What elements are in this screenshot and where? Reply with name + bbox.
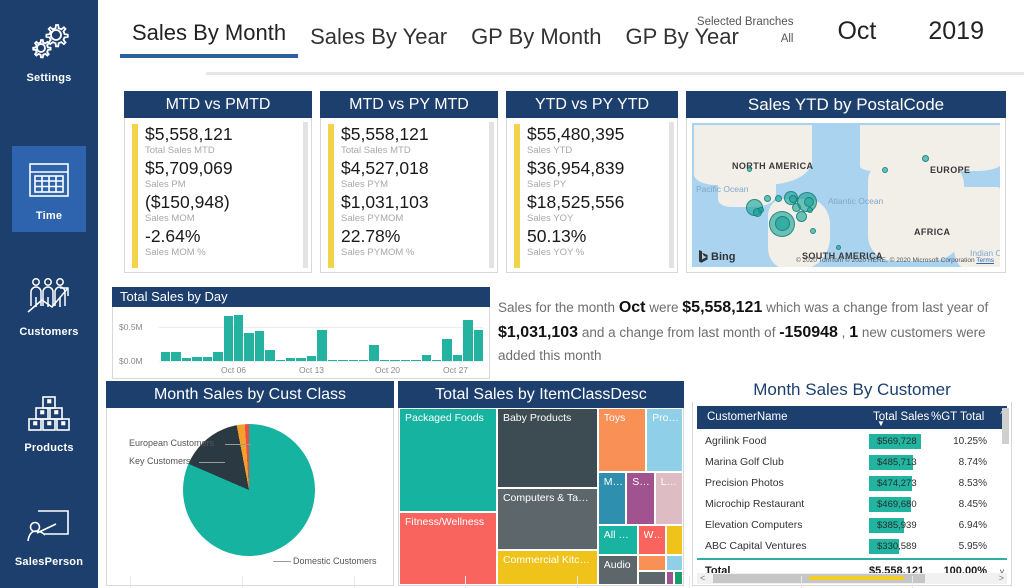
treemap-tile[interactable]: Meat [598,472,626,525]
map-label-africa: AFRICA [914,227,950,237]
kpi-label: Sales YOY [527,213,677,225]
bar[interactable] [203,357,212,361]
table-header-row: CustomerName Total Sales ▼ %GT Total Sal… [697,406,1007,429]
slicer-segment[interactable] [130,576,242,588]
narrative-text: which was a change from last year of [762,300,988,315]
kpi-value: $1,031,103 [341,192,497,213]
map-bubble[interactable] [807,207,813,213]
narrative-new-customers: 1 [849,324,858,341]
bar[interactable] [234,315,243,361]
cell-customer-name: Agrilink Food [705,431,766,452]
bar[interactable] [286,358,295,361]
bar[interactable] [182,358,191,361]
bar[interactable] [161,352,170,361]
treemap-tile-label: Computers & Tabl... [503,492,594,504]
treemap-tile[interactable]: Soda [626,472,654,525]
pie-label-key-customers: Key Customers [129,456,191,466]
map-bubble[interactable] [764,195,771,202]
map-bubble[interactable] [775,195,782,202]
y-axis-tick: $0.5M [119,322,143,332]
treemap-tile[interactable]: Projec... [646,408,683,472]
card-title: YTD vs PY YTD [506,91,678,118]
kpi-value: -2.64% [145,226,311,247]
slicer-segment[interactable] [465,576,577,588]
pie-body[interactable]: European Customers Key Customers Domesti… [106,408,394,586]
treemap-tile-label: Wi... [644,529,662,541]
kpi-value: 22.78% [341,226,497,247]
narrative-yoy-change: $1,031,103 [498,324,578,341]
map-body[interactable]: NORTH AMERICA EUROPE AFRICA SOUTH AMERIC… [686,118,1006,273]
narrative-mom-change: -150948 [779,324,838,341]
cell-pct: 5.95% [959,536,987,557]
map-terms-link[interactable]: Terms [976,257,994,264]
tab-sales-by-month[interactable]: Sales By Month [120,20,298,58]
treemap-tile-label: Commercial Kitch... [503,554,594,566]
cell-customer-name: Elevation Computers [705,515,802,536]
bar[interactable] [171,352,180,361]
tab-bar: Sales By Month Sales By Year GP By Month… [120,20,751,58]
kpi-value: $4,527,018 [341,158,497,179]
treemap-tile[interactable]: Computers & Tabl... [497,488,598,550]
kpi-row: $1,031,103 Sales PYMOM [321,192,497,225]
kpi-label: Sales MOM % [145,247,311,259]
card-title: Total Sales by ItemClassDesc [398,381,684,408]
sidebar-item-products[interactable]: Products [12,378,86,464]
map-bubble[interactable] [775,216,790,231]
tab-gp-by-month[interactable]: GP By Month [459,24,613,58]
treemap-tile-label: Baby Products [503,412,594,424]
pie-label-european-customers: European Customers [129,438,214,448]
bar[interactable] [380,360,389,361]
treemap-tile[interactable] [666,525,683,555]
card-body: $5,558,121 Total Sales MTD $4,527,018 Sa… [320,118,498,273]
kpi-row: 50.13% Sales YOY % [507,226,677,259]
map-bubble[interactable] [747,167,752,172]
bar[interactable] [453,355,462,361]
treemap-tile[interactable] [666,555,683,571]
map-bubble[interactable] [758,207,764,213]
table-card-month-sales-by-customer: Month Sales By Customer CustomerName Tot… [692,378,1012,586]
kpi-label: Sales YOY % [527,247,677,259]
kpi-value: 50.13% [527,226,677,247]
kpi-label: Total Sales MTD [145,145,311,157]
kpi-label: Sales PM [145,179,311,191]
map-label-north-america: NORTH AMERICA [732,161,813,171]
kpi-label: Sales PY [527,179,677,191]
x-axis-tick: Oct 27 [443,365,468,375]
map-attribution: © 2020 TomTom © 2020 HERE, © 2020 Micros… [796,257,994,264]
bar[interactable] [422,355,431,361]
treemap-tile[interactable]: Toys [598,408,646,472]
kpi-row: $5,558,121 Total Sales MTD [125,124,311,157]
card-title: MTD vs PY MTD [320,91,498,118]
cell-pct: 8.74% [959,452,987,473]
gridline [159,361,483,362]
table-row[interactable]: Agrilink Food $569,728 10.25% [697,431,1007,452]
narrative-text: were [646,300,683,315]
kpi-row: $5,558,121 Total Sales MTD [321,124,497,157]
table-row[interactable]: Microchip Restaurant $469,680 8.45% [697,494,1007,515]
cell-pct: 10.25% [953,431,987,452]
kpi-value: $5,709,069 [145,158,311,179]
narrative-month: Oct [619,299,646,316]
bar[interactable] [474,330,483,361]
sidebar-item-salesperson[interactable]: SalesPerson [12,492,86,578]
map-label-pacific-ocean: Pacific Ocean [696,185,748,195]
sort-descending-icon: ▼ [877,419,885,428]
treemap-tile[interactable]: Packaged Foods [399,408,497,512]
treemap-body[interactable]: Packaged FoodsFitness/WellnessBaby Produ… [398,408,684,586]
cell-total-sales: $385,939 [877,515,917,536]
y-axis-tick: $0.0M [119,356,143,366]
kpi-row: $55,480,395 Sales YTD [507,124,677,157]
dashboard-header: Sales By Month Sales By Year GP By Month… [98,0,1024,76]
bing-logo[interactable]: Bing [698,250,735,263]
kpi-value: ($150,948) [145,192,311,213]
kpi-row: ($150,948) Sales MOM [125,192,311,225]
column-header-customername[interactable]: CustomerName [707,406,788,429]
selected-branches-label: Selected Branches [697,14,794,31]
column-header-pct-total-sales[interactable]: %GT Total Sales [931,406,1007,429]
kpi-value: $5,558,121 [145,124,311,145]
treemap-tile[interactable]: Baby Products [497,408,598,488]
bar[interactable] [255,331,264,361]
sidebar-item-customers[interactable]: Customers [12,262,86,348]
kpi-row: $4,527,018 Sales PYM [321,158,497,191]
sidebar-item-settings[interactable]: Settings [12,8,86,94]
cell-pct: 8.45% [959,494,987,515]
landmass-north-america [694,125,812,185]
narrative-text: , [838,325,849,340]
boxes-icon [23,388,75,436]
card-title: MTD vs PMTD [124,91,312,118]
kpi-label: Sales PYMOM % [341,247,497,259]
map-label-europe: EUROPE [930,165,970,175]
table-row[interactable]: Marina Golf Club $485,713 8.74% [697,452,1007,473]
treemap-tile[interactable]: Lifts [655,472,683,525]
cell-pct: 8.53% [959,473,987,494]
cell-total-sales: $474,273 [877,473,917,494]
table-total-separator [697,558,1007,560]
cell-total-sales: $469,680 [877,494,917,515]
gears-icon [23,18,75,66]
calendar-icon [23,156,75,204]
header-filters: Selected Branches All Oct 2019 [697,14,1010,49]
card-title: Month Sales by Cust Class [106,381,394,408]
kpi-card-ytd-vs-py-ytd: YTD vs PY YTD $55,480,395 Sales YTD $36,… [506,91,678,273]
bottom-month-slicer[interactable] [130,576,1024,588]
bar[interactable] [265,350,274,361]
treemap-tile[interactable]: Wi... [638,525,666,555]
x-axis-tick: Oct 13 [299,365,324,375]
kpi-label: Sales MOM [145,213,311,225]
bar[interactable] [192,357,201,361]
bar[interactable] [338,360,347,361]
pie-card-month-sales-by-cust-class: Month Sales by Cust Class European Custo… [106,381,394,586]
bar[interactable] [432,360,441,361]
sidebar-item-label: Customers [19,326,78,338]
bar[interactable] [401,360,410,361]
map-bubble[interactable] [789,195,797,203]
slicer-segment[interactable] [689,576,801,588]
kpi-label: Sales PYM [341,179,497,191]
map-bubble[interactable] [804,197,814,207]
map-label-atlantic-ocean: Atlantic Ocean [828,197,883,207]
bar[interactable] [296,358,305,361]
cell-customer-name: Microchip Restaurant [705,494,804,515]
narrative-text: Sales for the month [498,300,619,315]
kpi-row: 22.78% Sales PYMOM % [321,226,497,259]
bar[interactable] [307,356,316,361]
treemap-tile-label: Fitness/Wellness [405,516,493,528]
selected-branches-filter[interactable]: Selected Branches All [697,14,812,49]
pie-leader-line [273,561,291,562]
card-title: Total Sales by Day [112,287,490,307]
card-body: $55,480,395 Sales YTD $36,954,839 Sales … [506,118,678,273]
kpi-row: -2.64% Sales MOM % [125,226,311,259]
selected-month-value[interactable]: Oct [811,17,902,46]
x-axis-tick: Oct 06 [221,365,246,375]
chart-card-total-sales-by-day: Total Sales by Day $0.5M $0.0M Oct 06 Oc… [112,287,490,379]
cell-total-sales: $569,728 [877,431,917,452]
bar-series [161,315,483,361]
kpi-label: Sales PYMOM [341,213,497,225]
bar[interactable] [276,360,285,361]
pie-leader-line [199,462,225,463]
table-row[interactable]: ABC Capital Ventures $330,589 5.95% [697,536,1007,557]
card-body: $5,558,121 Total Sales MTD $5,709,069 Sa… [124,118,312,273]
bar[interactable] [359,360,368,361]
kpi-row: $5,709,069 Sales PM [125,158,311,191]
slicer-segment[interactable] [354,576,466,588]
treemap-tile-label: Lifts [661,476,679,488]
presenter-icon [23,502,75,550]
kpi-row: $18,525,556 Sales YOY [507,192,677,225]
bar[interactable] [390,360,399,361]
treemap-tile[interactable]: Fitness/Wellness [399,512,497,585]
map-bubble[interactable] [882,167,888,173]
tab-sales-by-year[interactable]: Sales By Year [298,24,459,58]
treemap-tile-label: Toys [604,412,642,424]
bar[interactable] [442,339,451,361]
bing-map-canvas[interactable]: NORTH AMERICA EUROPE AFRICA SOUTH AMERIC… [692,123,1000,267]
cell-customer-name: Marina Golf Club [705,452,784,473]
map-bubble[interactable] [796,211,807,222]
cell-total-sales: $330,589 [877,536,917,557]
bar[interactable] [244,333,253,361]
card-title: Sales YTD by PostalCode [686,91,1006,118]
people-growth-icon [23,272,75,320]
kpi-label: Sales YTD [527,145,677,157]
dashboard-root: Settings Time [0,0,1024,588]
bar[interactable] [317,330,326,361]
cell-customer-name: Precision Photos [705,473,784,494]
kpi-row: $36,954,839 Sales PY [507,158,677,191]
bar[interactable] [411,360,420,361]
slicer-segment[interactable] [242,576,354,588]
table-row[interactable]: Elevation Computers $385,939 6.94% [697,515,1007,536]
treemap-tile-label: Audio [604,559,634,571]
table-row[interactable]: Precision Photos $474,273 8.53% [697,473,1007,494]
narrative-text: and a change from last month of [578,325,779,340]
narrative-sales: $5,558,121 [682,299,762,316]
cell-total-sales: $485,713 [877,452,917,473]
kpi-label: Total Sales MTD [341,145,497,157]
map-attribution-text: © 2020 TomTom © 2020 HERE, © 2020 Micros… [796,257,975,264]
treemap-tile-label: Soda [632,476,650,488]
bing-label: Bing [711,251,735,263]
bar[interactable] [463,320,472,361]
map-bubble[interactable] [922,155,929,162]
selected-year-value[interactable]: 2019 [902,17,1010,46]
bar[interactable] [213,352,222,361]
kpi-value: $36,954,839 [527,158,677,179]
kpi-card-mtd-vs-pmtd: MTD vs PMTD $5,558,121 Total Sales MTD $… [124,91,312,273]
pie-leader-line [225,444,251,445]
kpi-value: $18,525,556 [527,192,677,213]
sidebar-item-label: Products [24,442,73,454]
chart-body[interactable]: $0.5M $0.0M Oct 06 Oct 13 Oct 20 Oct 27 [112,307,490,379]
treemap-tile-label: Meat [604,476,622,488]
slicer-segment[interactable] [912,576,1024,588]
x-axis-tick: Oct 20 [375,365,400,375]
treemap-tile-label: Packaged Foods [405,412,493,424]
cell-customer-name: ABC Capital Ventures [705,536,807,557]
bar[interactable] [328,360,337,361]
treemap-card-total-sales-by-itemclassdesc: Total Sales by ItemClassDesc Packaged Fo… [398,381,684,586]
selected-branches-value: All [697,31,794,48]
bar[interactable] [349,360,358,361]
bar[interactable] [224,316,233,361]
cell-pct: 6.94% [959,515,987,536]
sidebar-item-label: Time [36,210,62,222]
kpi-card-mtd-vs-py-mtd: MTD vs PY MTD $5,558,121 Total Sales MTD… [320,91,498,273]
header-divider [206,72,1024,75]
landmass-africa [868,163,964,261]
kpi-value: $5,558,121 [341,124,497,145]
left-nav-sidebar: Settings Time [0,0,98,588]
treemap-tile[interactable] [638,555,666,571]
slicer-selected-indicator [809,576,905,580]
sidebar-item-time[interactable]: Time [12,146,86,232]
narrative-summary: Sales for the month Oct were $5,558,121 … [498,296,1018,367]
table-vertical-scrollbar[interactable] [1002,408,1009,444]
sidebar-item-label: Settings [27,72,72,84]
map-bubble[interactable] [810,228,816,234]
card-title: Month Sales By Customer [692,378,1012,402]
treemap-tile[interactable]: All Oth... [598,525,638,555]
slicer-segment[interactable] [577,576,689,588]
table-body[interactable]: CustomerName Total Sales ▼ %GT Total Sal… [692,402,1012,586]
map-card-sales-ytd-by-postalcode: Sales YTD by PostalCode NORTH AMERICA EU… [686,91,1006,273]
kpi-value: $55,480,395 [527,124,677,145]
map-bubble[interactable] [836,245,841,250]
treemap-tile-label: Projec... [652,412,679,424]
sidebar-item-label: SalesPerson [15,556,83,568]
bar[interactable] [369,345,378,361]
pie-label-domestic-customers: Domestic Customers [293,556,377,566]
treemap-tile-label: All Oth... [604,529,634,541]
